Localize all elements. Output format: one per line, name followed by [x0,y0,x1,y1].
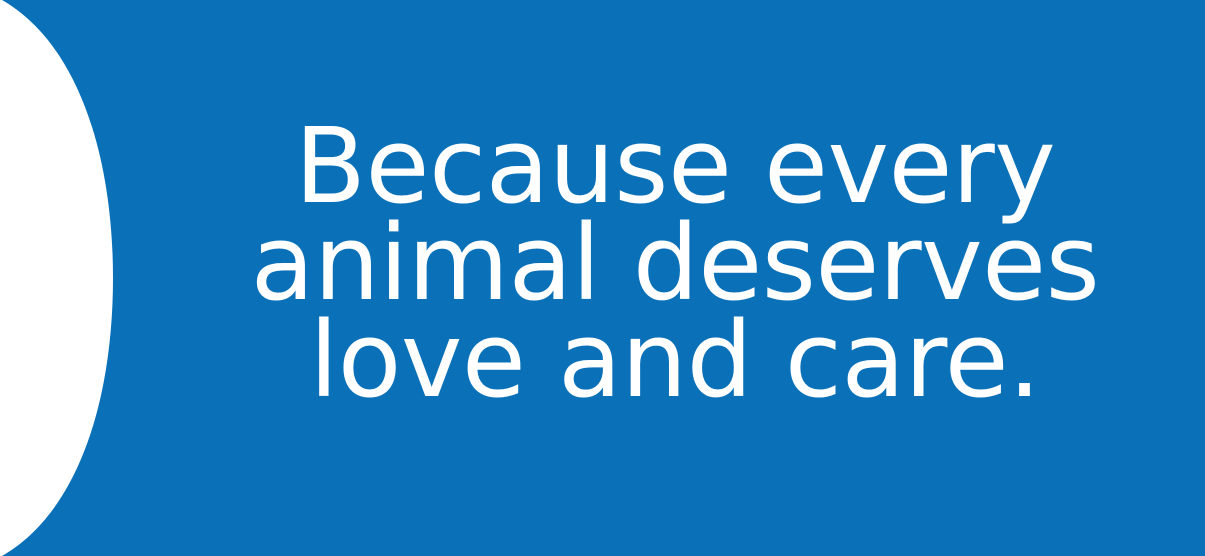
headline-line-3: love and care. [145,312,1205,409]
headline-line-2: animal deserves [145,215,1205,312]
promo-banner: Because every animal deserves love and c… [0,0,1205,556]
headline-text-block: Because every animal deserves love and c… [145,118,1205,409]
headline-line-1: Because every [145,118,1205,215]
